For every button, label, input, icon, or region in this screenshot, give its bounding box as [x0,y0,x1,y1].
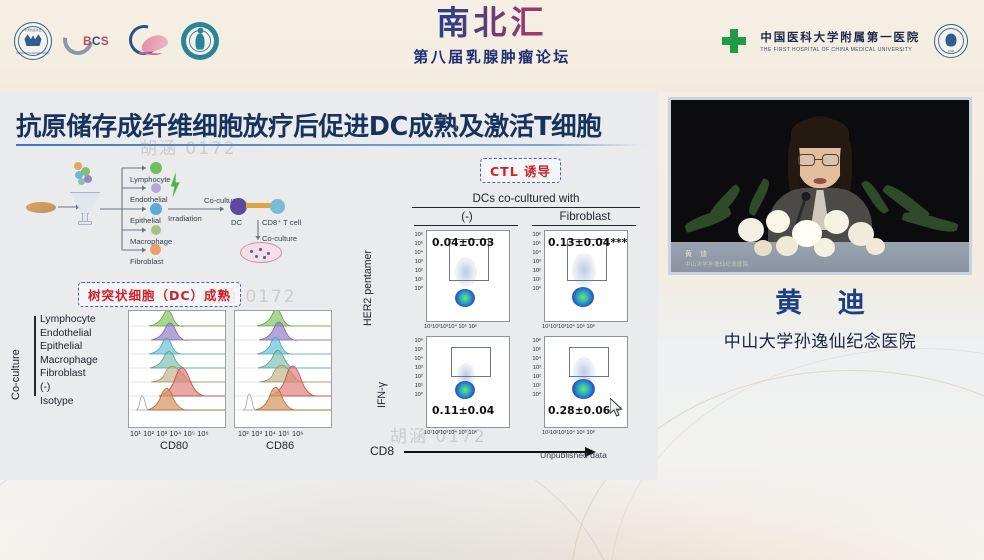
epithelial-dot-icon [150,203,162,215]
flow-header-label: DCs co-cultured with [412,192,640,205]
event-logo-subtitle: 第八届乳腺肿瘤论坛 [342,46,642,67]
plate-spot [250,250,253,253]
lymphocyte-dot-icon [150,162,162,174]
speaker-video-feed[interactable]: 黄 迪 中山大学孙逸仙纪念医院 [668,97,972,275]
hospital-seal-glyph [946,34,957,47]
video-lower-third: 黄 迪 中山大学孙逸仙纪念医院 [685,249,749,268]
plate-spot [263,256,266,259]
event-smear [572,253,596,287]
speaker-hair-side [840,138,852,194]
cd8-tcell-icon [270,199,285,214]
flow-header-rule [412,207,640,208]
dissociation-funnel-icon [70,192,100,228]
teal-medical-emblem-icon [181,22,219,60]
flow-column-rule [532,225,636,226]
ridgeline-row-label: (-) [40,381,126,395]
ifng-x-ticks-col1: 10¹10²10³10⁴ 10⁵ 10⁶ [424,430,477,436]
cd80-ridgeline-svg [129,311,225,427]
her2-y-ticks-col1: 10⁶10⁵10⁴10³10²10¹10⁰ [410,231,423,294]
endothelial-dot-icon [151,183,161,193]
mixed-cell-dot [84,175,92,183]
bcs-logo-icon: BCS [63,22,117,60]
schematic-label-dc: DC [231,218,242,227]
macrophage-dot-icon [151,225,161,235]
tissue-sample-icon [26,202,56,213]
background-arc [610,348,984,560]
cd8-axis-label: CD8 [370,444,394,458]
mixed-cell-dot [78,178,85,185]
flow-cytometry-group: DCs co-cultured with (-) Fibroblast HER2… [352,176,648,468]
breast-ribbon-logo-icon [128,22,170,60]
her2-fibroblast-value: 0.13±0.04*** [548,236,627,249]
her2-axis-label: HER2 pentamer [362,250,374,326]
green-cross-icon [722,29,746,53]
leaf [683,207,732,233]
slide-title: 抗原储存成纤维细胞放疗后促进DC成熟及激活T细胞 [16,106,646,143]
ridgeline-row-label: Fibroblast [40,367,126,381]
video-caption-affiliation: 中山大学孙逸仙纪念医院 [685,260,749,268]
coculture-plate-icon [240,242,282,263]
funnel-cup [70,192,100,214]
speaker-name: 黄 迪 [668,281,972,320]
flower [814,238,835,257]
dendritic-cell-icon [230,198,247,215]
event-smear [455,257,477,287]
speaker-info-panel: 黄 迪 中山大学孙逸仙纪念医院 [668,281,972,352]
ridgeline-row-label: Lymphocyte [40,313,126,327]
glasses-lens-left [798,154,815,166]
ifng-axis-label: IFN-γ [376,382,388,408]
hospital-name-cn: 中国医科大学附属第一医院 [760,29,920,45]
cd86-axis-ticks: 10² 10³ 10⁴ 10⁵ 10⁶ [238,429,304,438]
event-cluster [572,287,594,307]
speaker-fringe [791,118,849,148]
schematic-label-tcell: CD8⁺ T cell [262,218,301,227]
hospital-name-en: THE FIRST HOSPITAL OF CHINA MEDICAL UNIV… [760,47,920,53]
plate-spot [259,248,262,251]
flower [776,236,798,256]
plate-spot [255,255,258,258]
speaker-hair-side [788,138,800,194]
slide-footnote: Unpublished data [540,450,607,460]
mouse-cursor-icon [610,398,623,417]
schematic-label-macrophage: Macrophage [130,237,172,246]
right-logo-group: 中国医科大学附属第一医院 THE FIRST HOSPITAL OF CHINA… [722,24,968,58]
speaker-affiliation: 中山大学孙逸仙纪念医院 [668,327,972,352]
cd86-ridgeline-svg [235,311,331,427]
ifng-y-ticks-col2: 10⁶10⁵10⁴10³10²10¹10⁰ [528,337,541,400]
cd80-axis-ticks: 10¹ 10² 10³ 10⁴ 10⁵ 10⁶ [130,429,209,438]
dc-tcell-link-icon [246,203,272,208]
hospital-seal-icon: 1908 [934,24,968,58]
plate-spot [267,252,270,255]
ifng-y-ticks-col1: 10⁶10⁵10⁴10³10²10¹10⁰ [410,337,423,400]
schematic-label-irradiation: Irradiation [168,214,202,223]
ifng-x-ticks-col2: 10¹10²10³10⁴ 10⁵ 10⁶ [542,430,595,436]
flower [766,210,790,233]
glasses-lens-right [822,154,839,166]
event-cluster [455,381,475,399]
hospital-seal-year: 1908 [948,50,954,53]
event-logo-title: 南北汇 [342,6,642,41]
her2-negative-value: 0.04±0.03 [432,236,494,249]
title-underline [16,144,644,146]
cd86-axis-label: CD86 [266,440,294,452]
ridgeline-row-label: Epithelial [40,340,126,354]
her2-x-ticks-col1: 10¹10²10³10⁴ 10⁵ 10⁶ [424,324,477,330]
schematic-label-fibroblast: Fibroblast [130,257,163,266]
ridgeline-row-label: Isotype [40,395,126,409]
seal-core-glyph [25,34,42,46]
dc-maturation-badge: 树突状细胞（DC）成熟 [78,282,241,307]
experiment-schematic: Lymphocyte Endothelial Epithelial Macrop… [18,154,348,282]
coculture-bracket [34,316,36,396]
ridgeline-chart-group: Co-culture Lymphocyte Endothelial Epithe… [18,310,340,460]
flow-column-header-fibroblast: Fibroblast [530,210,640,223]
ridgeline-group-label: Co-culture [10,349,22,400]
ridgeline-row-label: Macrophage [40,354,126,368]
schematic-label-endothelial: Endothelial [130,195,168,204]
flow-column-header-negative: (-) [412,210,522,223]
flower [824,210,849,234]
her2-y-ticks-col2: 10⁶10⁵10⁴10³10²10¹10⁰ [528,231,541,294]
flower [738,218,764,242]
page-header: 中国抗癌协会 CHINA ANTI-CANCER ASSOC. BCS 南北汇 … [0,0,984,92]
left-logo-group: 中国抗癌协会 CHINA ANTI-CANCER ASSOC. BCS [14,22,219,60]
glasses-bridge [815,159,823,160]
funnel-base [78,221,92,225]
cd80-histogram-panel [128,310,226,428]
leaf [901,209,958,236]
ridgeline-row-label: Endothelial [40,327,126,341]
ifng-negative-value: 0.11±0.04 [432,404,494,417]
flow-column-rule [414,225,518,226]
flower [754,240,772,256]
her2-x-ticks-col2: 10¹10²10³10⁴ 10⁵ 10⁶ [542,324,595,330]
ridgeline-row-labels: Lymphocyte Endothelial Epithelial Macrop… [40,313,126,408]
cd86-histogram-panel [234,310,332,428]
hospital-name-block: 中国医科大学附属第一医院 THE FIRST HOSPITAL OF CHINA… [760,29,920,53]
schematic-label-lymphocyte: Lymphocyte [130,175,171,184]
speaker-mouth [814,178,827,184]
emblem-figure-icon [196,34,205,50]
seal-top-text: 中国抗癌协会 [24,28,41,32]
event-cluster [455,289,475,307]
chinese-anti-cancer-association-seal-icon: 中国抗癌协会 CHINA ANTI-CANCER ASSOC. [14,22,52,60]
cd80-axis-label: CD80 [160,440,188,452]
seal-bottom-text: CHINA ANTI-CANCER ASSOC. [16,52,50,55]
video-caption-name: 黄 迪 [685,249,749,259]
event-cluster [572,379,595,399]
schematic-label-epithelial: Epithelial [130,216,161,225]
slide-panel[interactable]: 抗原储存成纤维细胞放疗后促进DC成熟及激活T细胞 胡涵 0172 胡涵 0172… [0,92,658,480]
flower [866,238,885,255]
event-logo: 南北汇 第八届乳腺肿瘤论坛 [342,6,642,67]
bcs-label: BCS [83,34,109,48]
